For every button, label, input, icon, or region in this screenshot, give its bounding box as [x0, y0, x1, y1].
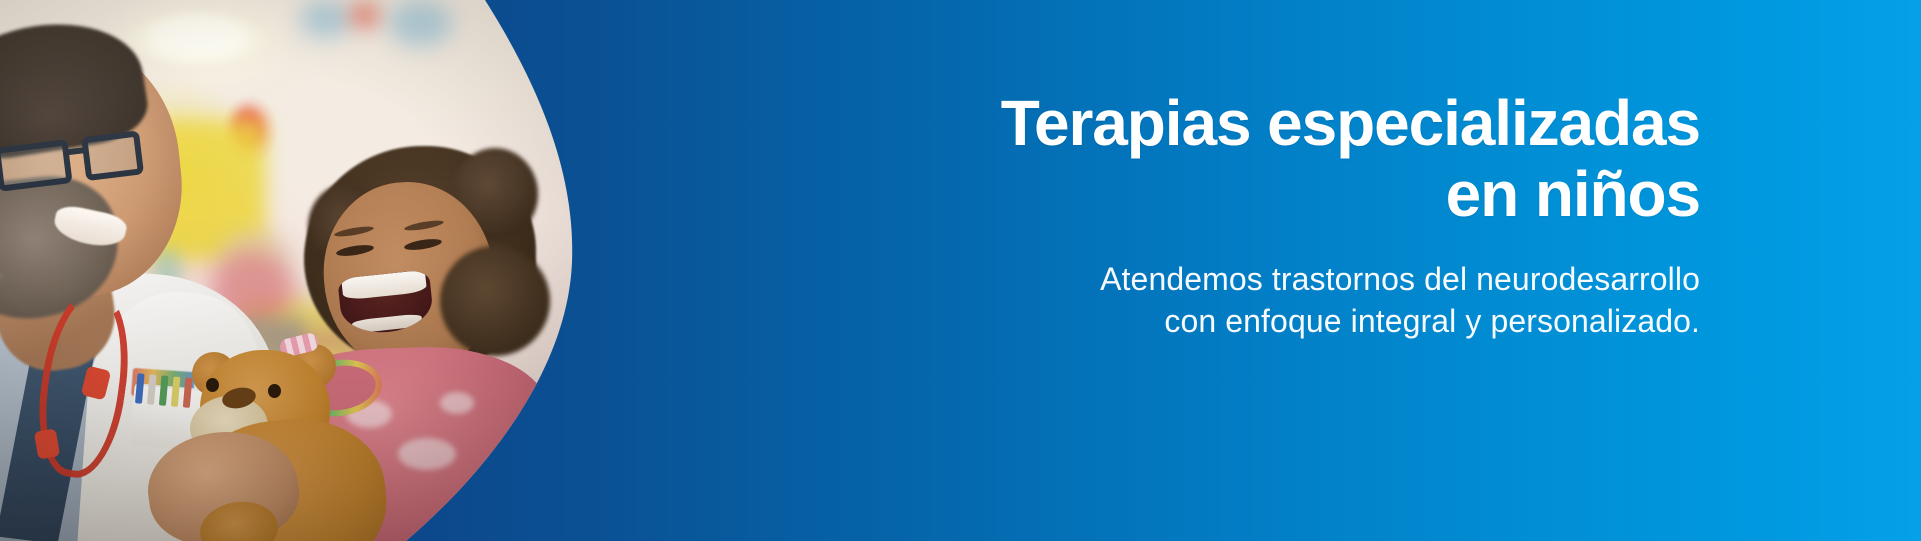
wall-decor-cyan-icon	[388, 0, 452, 46]
shirt-pattern-2	[398, 438, 456, 470]
stethoscope-clip-2	[34, 428, 61, 459]
wall-decor-red-icon	[348, 0, 382, 30]
pen-red	[183, 377, 193, 407]
eyeglass-lens-left	[0, 139, 73, 192]
pen-green	[159, 375, 169, 405]
pen-grey	[147, 374, 157, 404]
girl-hair-puff-lower	[440, 246, 550, 356]
shirt-pattern-4	[440, 392, 474, 414]
girl-smile	[337, 269, 435, 336]
ceiling-lamp-icon	[148, 16, 248, 60]
pen-yellow	[171, 376, 181, 406]
hero-banner: Terapias especializadas en niños Atendem…	[0, 0, 1921, 541]
teddy-eye-left	[206, 378, 219, 392]
wall-decor-blue-icon	[300, 0, 352, 38]
pen-blue	[135, 373, 145, 403]
hero-title: Terapias especializadas en niños	[740, 88, 1700, 230]
teddy-eye-right	[268, 384, 281, 398]
pocket-pens-icon	[135, 373, 202, 412]
eyeglass-lens-right	[81, 130, 144, 181]
hero-subtitle: Atendemos trastornos del neurodesarrollo…	[740, 258, 1700, 342]
hero-text-block: Terapias especializadas en niños Atendem…	[740, 88, 1700, 342]
